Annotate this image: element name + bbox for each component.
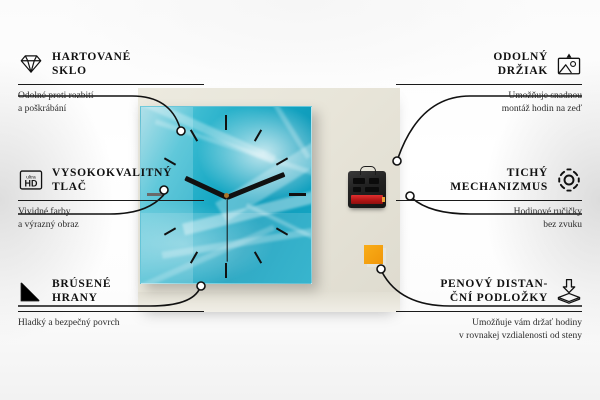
mechanism-hanger (360, 166, 376, 175)
ground-edges-icon (18, 278, 44, 304)
foam-spacer-pad (364, 245, 383, 264)
clock-second-hand (226, 197, 227, 262)
mechanism-vent (353, 187, 361, 192)
clock-tick (289, 193, 306, 196)
wall-mount-picture-icon (556, 51, 582, 77)
infographic-canvas: HARTOVANÉ SKLO Odolné proti rozbití a po… (0, 0, 600, 400)
feature-title: VYSOKOKVALITNÝ TLAČ (52, 166, 172, 195)
divider (18, 84, 204, 85)
feature-description: Hladký a bezpečný povrch (18, 317, 204, 330)
feature-description: Umožňuje snadnou montáž hodin na zeď (396, 90, 582, 116)
feature-tempered-glass: HARTOVANÉ SKLO Odolné proti rozbití a po… (18, 50, 204, 116)
svg-text:HD: HD (25, 179, 38, 189)
ultra-hd-icon: ultra HD (18, 167, 44, 193)
feature-title: HARTOVANÉ SKLO (52, 50, 131, 79)
feature-description: Hodinové ručičky bez zvuku (396, 206, 582, 232)
feature-description: Odolné proti rozbití a poškrábání (18, 90, 204, 116)
divider (396, 311, 582, 312)
feature-title: BRÚSENÉ HRANY (52, 277, 111, 306)
feature-foam-spacers: PENOVÝ DISTAN- ČNÍ PODLOŽKY Umožňuje vám… (396, 277, 582, 343)
feature-title: ODOLNÝ DRŽIAK (493, 50, 548, 79)
feature-ground-edges: BRÚSENÉ HRANY Hladký a bezpečný povrch (18, 277, 204, 330)
mechanism-vent (369, 178, 379, 184)
feature-title: PENOVÝ DISTAN- ČNÍ PODLOŽKY (440, 277, 548, 306)
feature-high-quality-print: ultra HD VYSOKOKVALITNÝ TLAČ Vividné far… (18, 166, 204, 232)
gear-icon (556, 167, 582, 193)
divider (18, 311, 204, 312)
clock-tick (225, 115, 227, 130)
feature-durable-holder: ODOLNÝ DRŽIAK Umožňuje snadnou montáž ho… (396, 50, 582, 116)
press-down-pad-icon (556, 278, 582, 304)
feature-title: TICHÝ MECHANIZMUS (450, 166, 548, 195)
mechanism-vent (353, 178, 365, 184)
mechanism-vent (365, 187, 379, 192)
divider (18, 200, 204, 201)
feature-silent-mechanism: TICHÝ MECHANIZMUS Hodinové ručičky bez z… (396, 166, 582, 232)
diamond-icon (18, 51, 44, 77)
mechanism-battery (351, 195, 383, 204)
clock-mechanism (348, 171, 386, 208)
divider (396, 84, 582, 85)
clock-tick (225, 263, 227, 278)
clock-center-cap (224, 193, 229, 198)
feature-description: Vividné farby a výrazný obraz (18, 206, 204, 232)
divider (396, 200, 582, 201)
feature-description: Umožňuje vám držať hodiny v rovnakej vzd… (396, 317, 582, 343)
